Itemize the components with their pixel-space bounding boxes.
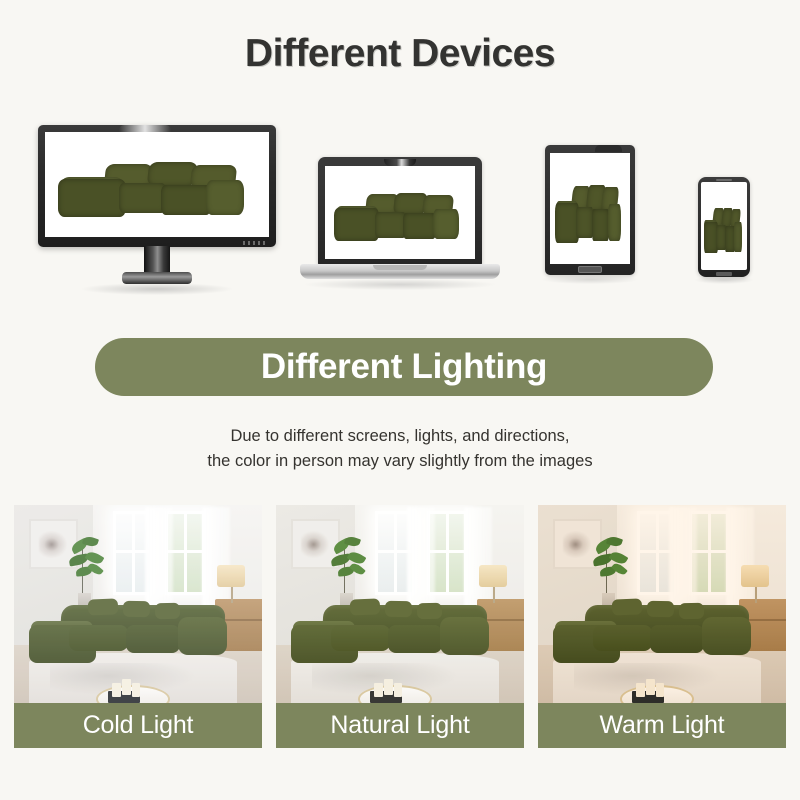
lighting-panel-label-band-natural: Natural Light [276,703,524,748]
device-monitor [38,125,276,295]
curtain-left [669,507,696,615]
room-photo-warm-light [538,505,786,705]
phone-earpiece-speaker [716,179,732,181]
sofa-product-image-tablet [550,153,630,264]
living-room-scene [538,505,786,705]
color-disclaimer: Due to different screens, lights, and di… [0,424,800,474]
room-photo-natural-light [276,505,524,705]
sectional-sofa-seat [650,625,705,653]
living-room-scene [276,505,524,705]
device-laptop [300,157,500,292]
table-lamp-stem [493,587,495,603]
tablet-shadow [542,275,638,284]
table-lamp-stem [755,587,757,603]
sofa-pillow [88,598,118,615]
table-lamp-stem [231,587,233,603]
tablet-body [545,145,635,275]
laptop-base [300,264,500,279]
sectional-sofa-arm [702,617,752,655]
phone-shadow [695,276,753,284]
lighting-panel-label-band-cold: Cold Light [14,703,262,748]
sectional-sofa-seat [69,625,129,651]
laptop-shadow [305,279,495,290]
candle [384,679,393,695]
lighting-panel-natural-light[interactable]: Natural Light [276,505,524,748]
phone-screen [701,182,747,270]
laptop-screen [325,166,475,259]
laptop-trackpad-notch [373,265,427,270]
color-disclaimer-line2: the color in person may vary slightly fr… [0,449,800,474]
room-photo-cold-light [14,505,262,705]
sofa-pillow [417,603,442,619]
curtain-left [145,507,172,615]
table-lamp-shade [741,565,768,587]
lighting-panel-cold-light[interactable]: Cold Light [14,505,262,748]
tablet-home-button[interactable] [578,266,602,273]
tablet-screen [550,153,630,264]
sectional-sofa-arm [178,617,228,655]
monitor-bezel [38,125,276,247]
sofa-pillow [385,601,413,617]
sofa-pillow [612,598,642,615]
curtain-left [407,507,434,615]
sectional-sofa-seat [126,625,181,653]
candle [656,683,665,697]
sofa-pillow [647,601,675,617]
lighting-panel-label-band-warm: Warm Light [538,703,786,748]
lighting-panel-label-warm: Warm Light [600,711,725,740]
sectional-sofa-arm [440,617,490,655]
living-room-scene [14,505,262,705]
laptop-webcam-bar [384,159,416,166]
candle [646,679,655,695]
sofa-product-image-laptop [325,166,475,259]
candle [374,683,383,697]
sofa-pillow [350,598,380,615]
monitor-screen [45,132,269,237]
phone-body [698,177,750,277]
monitor-shadow [82,283,232,295]
lighting-panel-label-cold: Cold Light [83,711,194,740]
sectional-sofa-seat [593,625,653,651]
lighting-panel-warm-light[interactable]: Warm Light [538,505,786,748]
sectional-sofa-seat [388,625,443,653]
candle [636,683,645,697]
sofa-pillow [679,603,704,619]
candle [122,679,131,695]
device-phone [698,177,750,285]
monitor-stand-neck [144,246,170,274]
candle [394,683,403,697]
sofa-pillow [155,603,180,619]
table-lamp-shade [479,565,506,587]
different-lighting-banner: Different Lighting [95,338,713,396]
lighting-comparison-panels: Cold Light [14,505,786,748]
page-title: Different Devices [0,32,800,76]
device-tablet [545,145,635,285]
sofa-product-image-phone [701,182,747,270]
candle [112,683,121,697]
sectional-sofa-seat [331,625,391,651]
table-lamp-shade [217,565,244,587]
different-lighting-banner-label: Different Lighting [261,347,547,387]
devices-row [0,115,800,300]
candle [132,683,141,697]
tablet-top-bar [595,145,622,152]
color-disclaimer-line1: Due to different screens, lights, and di… [0,424,800,449]
lighting-panel-label-natural: Natural Light [330,711,469,740]
sofa-pillow [123,601,151,617]
sofa-product-image-monitor [45,132,269,237]
laptop-lid [318,157,482,265]
monitor-indicator-lights [243,241,267,245]
